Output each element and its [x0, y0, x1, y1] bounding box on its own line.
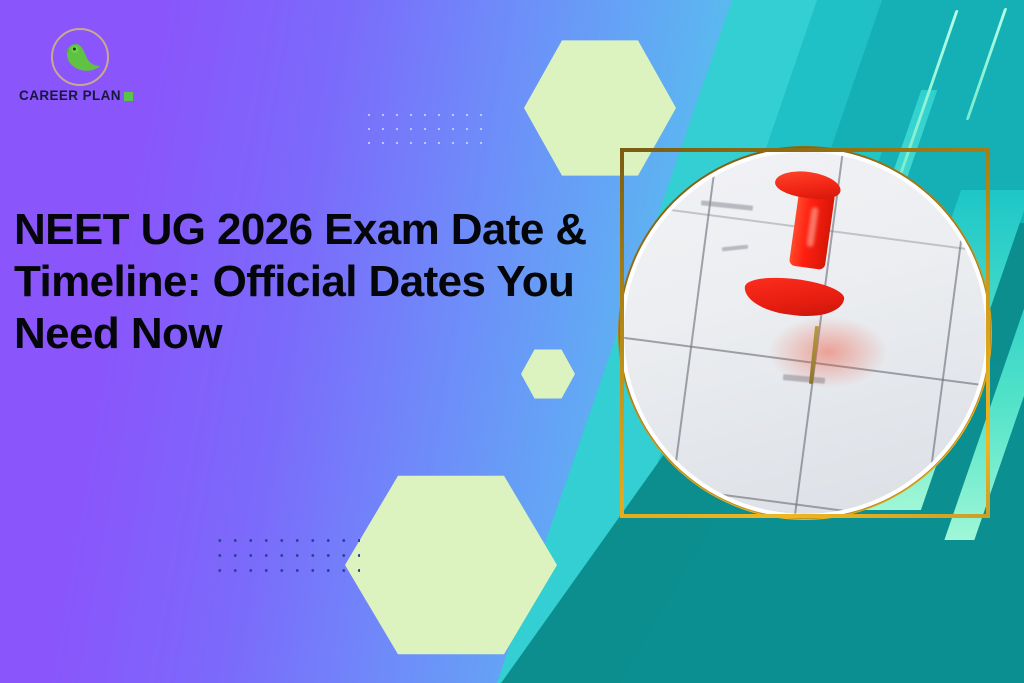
pushpin-calendar-photo: [620, 148, 990, 518]
pushpin-glow: [768, 316, 888, 388]
dot-grid-light: [362, 108, 488, 146]
dot-grid-dark: [212, 533, 360, 575]
blog-banner: CAREER PLAN NEET UG 2026 Exam Date & Tim…: [0, 0, 1024, 683]
calendar-grid-line: [914, 152, 984, 514]
calendar-paper: [624, 152, 986, 514]
photo-clip: [624, 152, 986, 514]
page-title: NEET UG 2026 Exam Date & Timeline: Offic…: [14, 204, 634, 360]
calendar-text-blur: [722, 245, 748, 252]
logo-wordmark: CAREER PLAN: [18, 88, 134, 103]
green-square-mark: [124, 92, 133, 101]
hexagon-bottom: [345, 470, 557, 660]
brand-logo[interactable]: CAREER PLAN: [18, 28, 134, 112]
bird-icon: [62, 38, 102, 76]
calendar-grid-line: [624, 473, 986, 514]
hairline-diagonal-2: [966, 8, 1008, 120]
pushpin-skirt: [742, 273, 846, 321]
calendar-text-blur: [624, 419, 640, 432]
logo-wordmark-text: CAREER PLAN: [19, 88, 121, 103]
pushpin-head: [773, 168, 842, 203]
